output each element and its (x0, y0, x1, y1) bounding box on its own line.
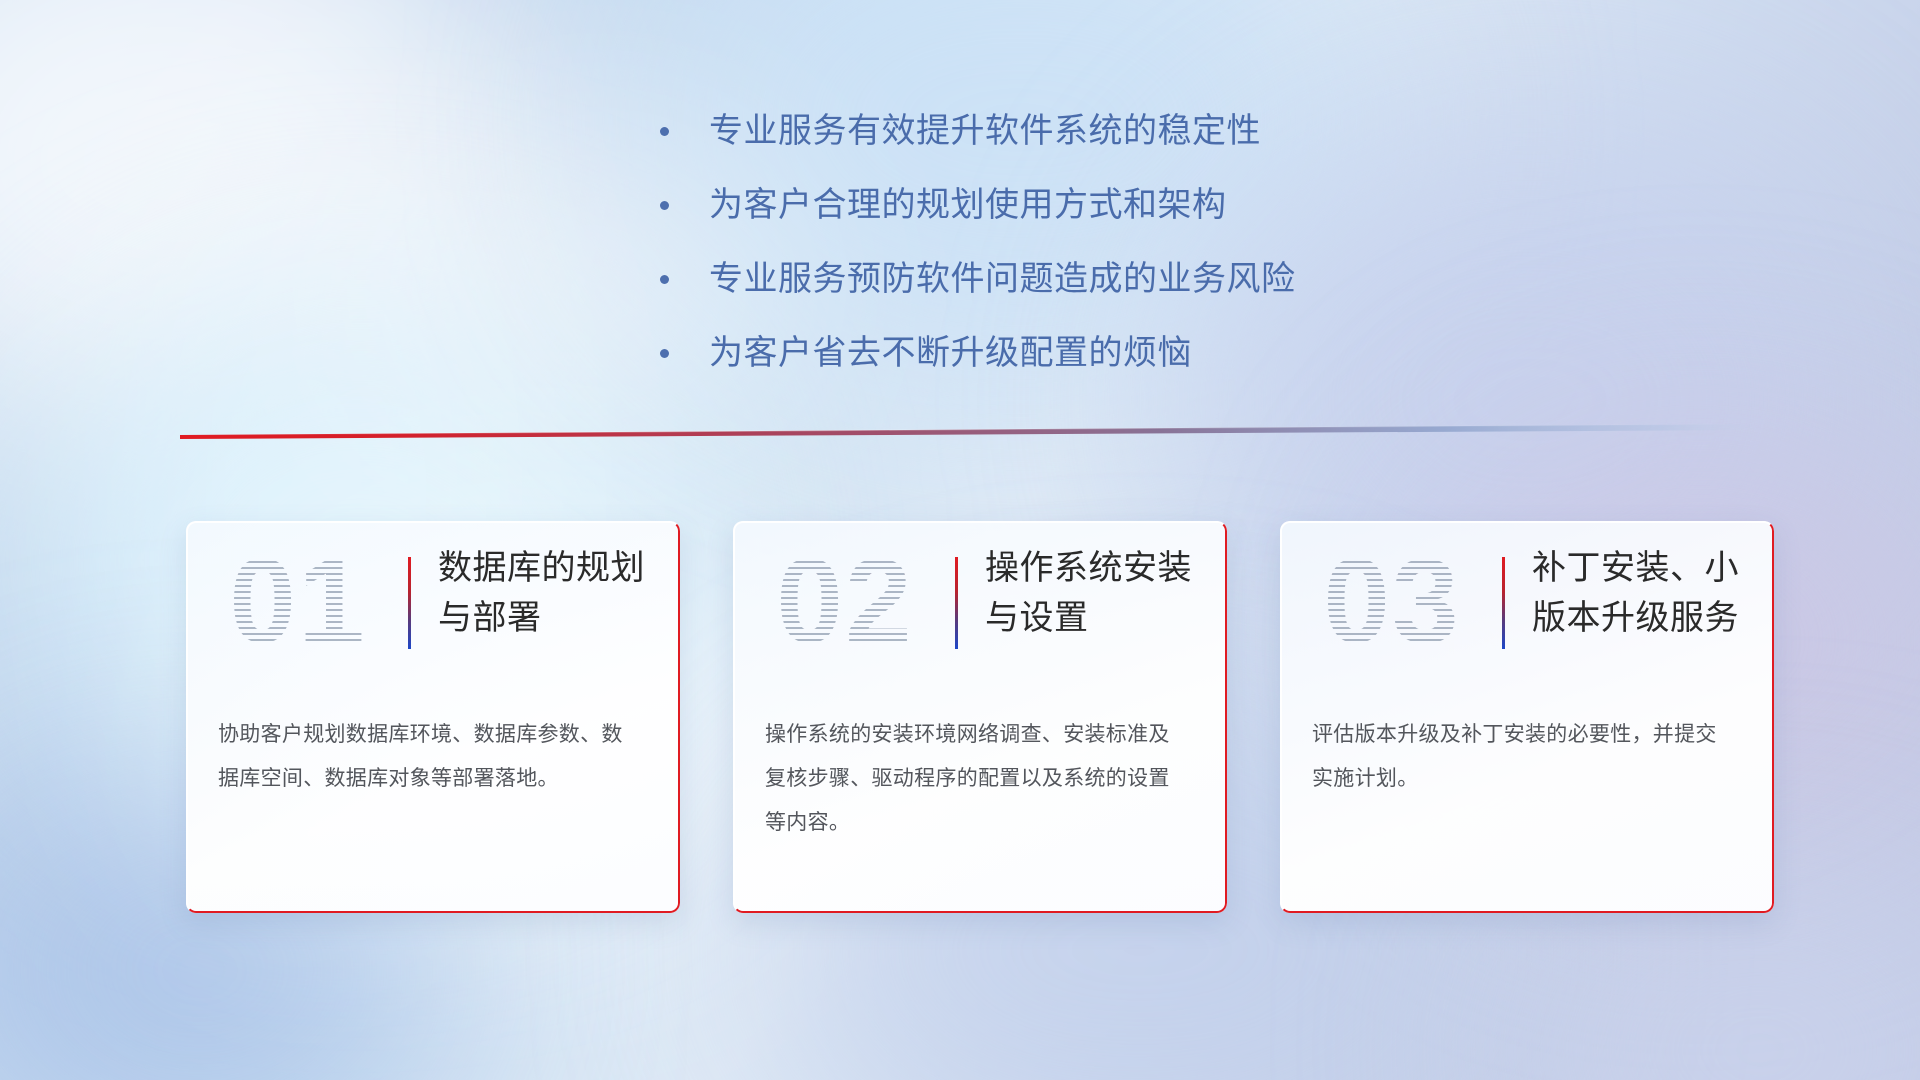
card-divider-rule (1502, 557, 1505, 649)
bullet-text: 为客户省去不断升级配置的烦恼 (709, 330, 1192, 376)
card-number-watermark: 02 (755, 531, 935, 671)
service-card-list: 01 数据库的规划与部署 协助客户规划数据库环境、数据库参数、数据库空间、数据库… (186, 521, 1774, 913)
background-glow-a (0, 0, 540, 440)
benefits-bullet-list: 专业服务有效提升软件系统的稳定性 为客户合理的规划使用方式和架构 专业服务预防软… (660, 108, 1560, 404)
card-header: 02 操作系统安装与设置 (733, 521, 1227, 699)
card-header: 01 数据库的规划与部署 (186, 521, 680, 699)
bullet-dot-icon (660, 275, 669, 284)
bullet-dot-icon (660, 201, 669, 210)
bullet-text: 专业服务预防软件问题造成的业务风险 (709, 256, 1296, 302)
card-title: 补丁安装、小版本升级服务 (1532, 543, 1754, 643)
list-item: 专业服务预防软件问题造成的业务风险 (660, 256, 1560, 302)
card-title: 数据库的规划与部署 (438, 543, 660, 643)
list-item: 为客户省去不断升级配置的烦恼 (660, 330, 1560, 376)
bullet-dot-icon (660, 349, 669, 358)
card-divider-rule (955, 557, 958, 649)
list-item: 专业服务有效提升软件系统的稳定性 (660, 108, 1560, 154)
card-number-watermark: 03 (1302, 531, 1482, 671)
section-divider (180, 418, 1760, 444)
card-header: 03 补丁安装、小版本升级服务 (1280, 521, 1774, 699)
list-item: 为客户合理的规划使用方式和架构 (660, 182, 1560, 228)
card-body-text: 协助客户规划数据库环境、数据库参数、数据库空间、数据库对象等部署落地。 (218, 713, 638, 801)
service-card-03[interactable]: 03 补丁安装、小版本升级服务 评估版本升级及补丁安装的必要性，并提交实施计划。 (1280, 521, 1774, 913)
card-title: 操作系统安装与设置 (985, 543, 1207, 643)
card-body-text: 操作系统的安装环境网络调查、安装标准及复核步骤、驱动程序的配置以及系统的设置等内… (765, 713, 1185, 845)
bullet-text: 为客户合理的规划使用方式和架构 (709, 182, 1227, 228)
service-card-02[interactable]: 02 操作系统安装与设置 操作系统的安装环境网络调查、安装标准及复核步骤、驱动程… (733, 521, 1227, 913)
card-body-text: 评估版本升级及补丁安装的必要性，并提交实施计划。 (1312, 713, 1732, 801)
bullet-dot-icon (660, 127, 669, 136)
bullet-text: 专业服务有效提升软件系统的稳定性 (709, 108, 1261, 154)
slide-canvas: 专业服务有效提升软件系统的稳定性 为客户合理的规划使用方式和架构 专业服务预防软… (0, 0, 1920, 1080)
service-card-01[interactable]: 01 数据库的规划与部署 协助客户规划数据库环境、数据库参数、数据库空间、数据库… (186, 521, 680, 913)
card-divider-rule (408, 557, 411, 649)
card-number-watermark: 01 (208, 531, 388, 671)
